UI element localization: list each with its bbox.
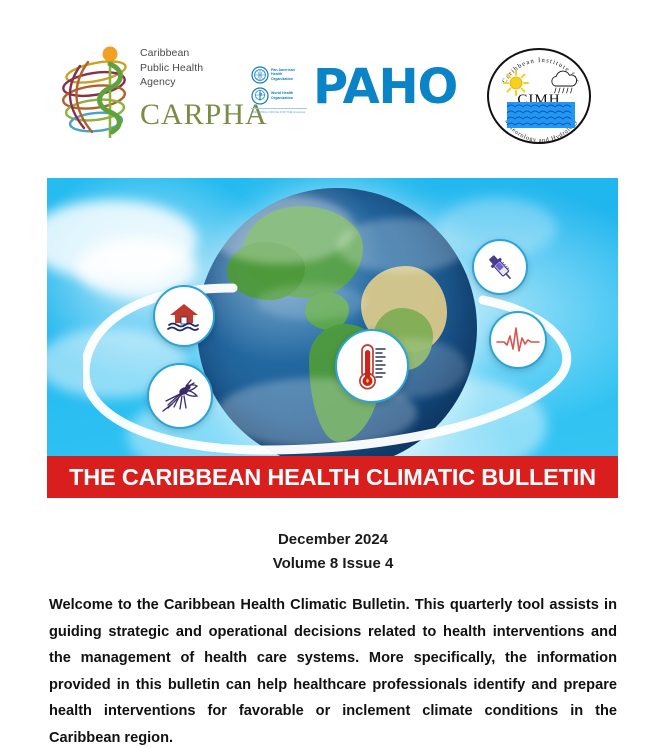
paho-seal1-line3: Organization (271, 77, 295, 82)
carpha-acronym: CARPHA (140, 98, 268, 132)
bulletin-cover-page: Caribbean Public Health Agency CARPHA Pa… (0, 0, 666, 747)
paho-seal-text-pan-american: Pan American Health Organization (271, 68, 295, 82)
bulletin-title-banner: THE CARIBBEAN HEALTH CLIMATIC BULLETIN (47, 456, 618, 498)
syringe-icon (472, 239, 528, 295)
intro-paragraph: Welcome to the Caribbean Health Climatic… (49, 592, 617, 747)
issue-date: December 2024 (0, 528, 666, 552)
paho-tagline: REGIONAL OFFICE FOR THE Americas (251, 108, 307, 114)
hero-image (47, 178, 618, 498)
waves-icon (507, 102, 575, 128)
who-emblem-icon (251, 87, 269, 105)
earth-globe (197, 188, 477, 468)
cimh-circle: Caribbean Institute for Meteorology and … (487, 48, 591, 144)
cimh-logo: Caribbean Institute for Meteorology and … (487, 48, 595, 146)
heartbeat-ecg-icon (489, 311, 547, 369)
carpha-logo: Caribbean Public Health Agency CARPHA (62, 42, 237, 146)
paho-wordmark: PAHO (313, 56, 457, 118)
paho-seal-text-who: World Health Organization (271, 91, 293, 100)
flooded-house-icon (153, 285, 215, 347)
paho-logo: Pan American Health Organization Worl (251, 56, 456, 124)
paho-seal-row-pan-american: Pan American Health Organization (251, 64, 313, 85)
paho-seal-row-who: World Health Organization (251, 85, 313, 106)
carpha-name-line-2: Public Health (140, 61, 236, 76)
paho-seal2-line1: World Health (271, 91, 293, 96)
carpha-name-line-1: Caribbean (140, 46, 236, 61)
logo-bar: Caribbean Public Health Agency CARPHA Pa… (0, 38, 666, 150)
mosquito-icon (147, 363, 213, 429)
thermometer-icon (335, 329, 409, 403)
carpha-name-lines: Caribbean Public Health Agency (140, 46, 236, 90)
bulletin-title: THE CARIBBEAN HEALTH CLIMATIC BULLETIN (69, 464, 596, 491)
carpha-globe-mark-icon (62, 42, 138, 142)
issue-meta: December 2024 Volume 8 Issue 4 (0, 528, 666, 576)
paho-seals: Pan American Health Organization Worl (251, 64, 313, 116)
paho-globe-seal-icon (251, 66, 269, 84)
issue-volume: Volume 8 Issue 4 (0, 552, 666, 576)
carpha-name-line-3: Agency (140, 75, 236, 90)
paho-seal2-line2: Organization (271, 96, 293, 101)
